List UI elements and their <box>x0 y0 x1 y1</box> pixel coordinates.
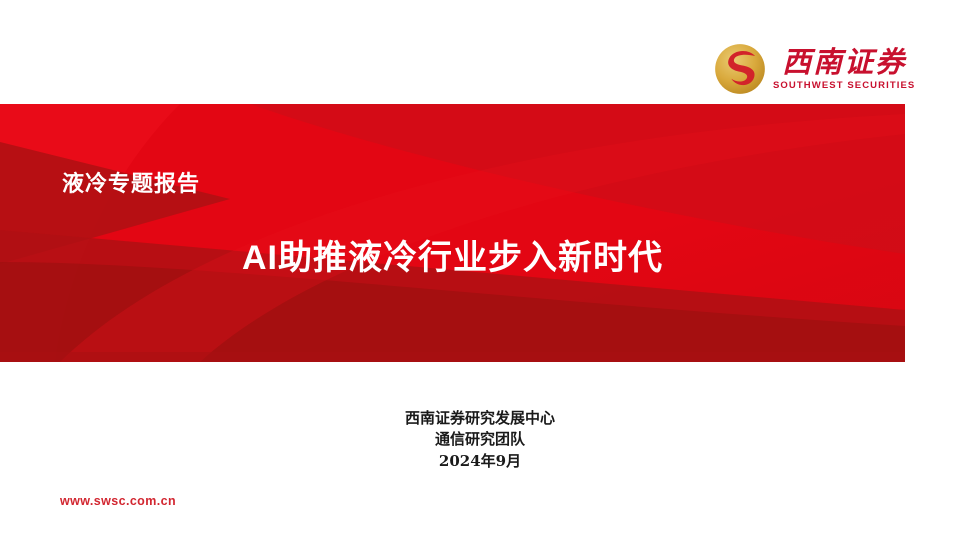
byline-line-2: 通信研究团队 <box>0 429 960 450</box>
report-title: AI助推液冷行业步入新时代 <box>0 230 905 279</box>
company-logo: 西南证券 SOUTHWEST SECURITIES <box>713 36 908 102</box>
title-banner: 液冷专题报告 AI助推液冷行业步入新时代 <box>0 104 905 362</box>
logo-chinese-name: 西南证券 <box>782 47 906 77</box>
byline-block: 西南证券研究发展中心 通信研究团队 2024年9月 <box>0 408 960 472</box>
website-url[interactable]: www.swsc.com.cn <box>60 494 176 508</box>
report-subtitle: 液冷专题报告 <box>62 166 200 198</box>
byline-line-1: 西南证券研究发展中心 <box>0 408 960 429</box>
byline-line-3: 2024年9月 <box>0 451 960 472</box>
banner-text-layer: 液冷专题报告 AI助推液冷行业步入新时代 <box>0 104 905 362</box>
logo-english-name: SOUTHWEST SECURITIES <box>773 80 915 91</box>
cover-slide: 西南证券 SOUTHWEST SECURITIES <box>0 0 960 540</box>
logo-wordmark: 西南证券 SOUTHWEST SECURITIES <box>773 47 915 90</box>
swsc-circular-swirl-logo-icon <box>713 42 767 96</box>
